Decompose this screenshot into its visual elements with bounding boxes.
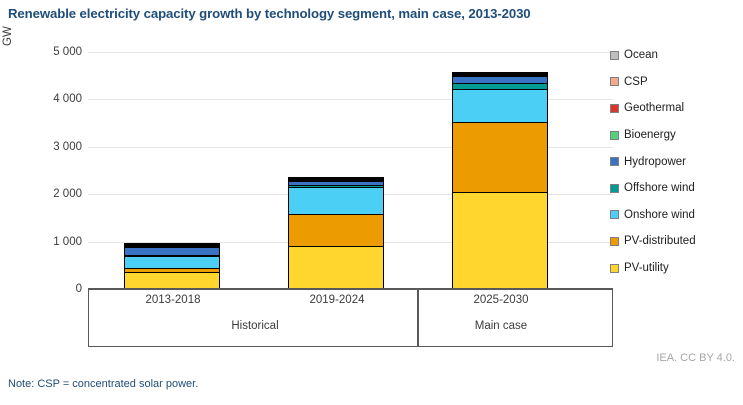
y-axis-tick-label: 0	[22, 283, 82, 295]
category-group-separator	[417, 290, 419, 347]
x-axis-period-label: 2019-2024	[277, 294, 397, 306]
legend-item-geothermal[interactable]: Geothermal	[610, 95, 740, 122]
legend-item-pv-distributed[interactable]: PV-distributed	[610, 228, 740, 255]
legend-label: Bioenergy	[624, 129, 676, 141]
x-axis-period-label: 2025-2030	[441, 294, 561, 306]
bar-segment-pv-utility[interactable]	[124, 272, 220, 289]
bar-2013-2018[interactable]	[124, 243, 220, 289]
y-axis-tick-label: 4 000	[22, 93, 82, 105]
bar-segment-pv-utility[interactable]	[452, 192, 548, 289]
legend-swatch-icon	[610, 104, 619, 113]
y-axis-tick-label: 1 000	[22, 236, 82, 248]
legend-item-ocean[interactable]: Ocean	[610, 42, 740, 69]
legend-label: Ocean	[624, 49, 658, 61]
x-axis-group-label: Main case	[441, 320, 561, 332]
x-axis-period-label: 2013-2018	[113, 294, 233, 306]
y-axis-tick-label: 3 000	[22, 141, 82, 153]
gridline	[88, 52, 613, 53]
chart-legend: OceanCSPGeothermalBioenergyHydropowerOff…	[610, 42, 740, 281]
category-axis: 2013-20182019-20242025-2030HistoricalMai…	[88, 290, 613, 347]
legend-label: Hydropower	[624, 156, 686, 168]
legend-label: Geothermal	[624, 102, 684, 114]
legend-swatch-icon	[610, 51, 619, 60]
legend-swatch-icon	[610, 77, 619, 86]
legend-item-offshore-wind[interactable]: Offshore wind	[610, 175, 740, 202]
legend-swatch-icon	[610, 237, 619, 246]
legend-swatch-icon	[610, 184, 619, 193]
bar-segment-pv-utility[interactable]	[288, 246, 384, 289]
legend-item-pv-utility[interactable]: PV-utility	[610, 255, 740, 282]
legend-label: PV-distributed	[624, 235, 696, 247]
legend-swatch-icon	[610, 210, 619, 219]
legend-label: CSP	[624, 76, 648, 88]
legend-item-onshore-wind[interactable]: Onshore wind	[610, 202, 740, 229]
legend-label: Offshore wind	[624, 182, 695, 194]
bar-2025-2030[interactable]	[452, 72, 548, 289]
legend-swatch-icon	[610, 131, 619, 140]
copyright-credit: IEA. CC BY 4.0.	[656, 352, 735, 364]
y-axis-ticks: 01 0002 0003 0004 0005 000	[12, 0, 82, 405]
bar-2019-2024[interactable]	[288, 177, 384, 289]
bar-segment-onshore-wind[interactable]	[288, 187, 384, 215]
legend-item-bioenergy[interactable]: Bioenergy	[610, 122, 740, 149]
bar-segment-onshore-wind[interactable]	[124, 256, 220, 269]
legend-item-hydropower[interactable]: Hydropower	[610, 148, 740, 175]
legend-label: PV-utility	[624, 262, 669, 274]
legend-swatch-icon	[610, 264, 619, 273]
bar-segment-onshore-wind[interactable]	[452, 89, 548, 124]
bar-segment-pv-distributed[interactable]	[452, 122, 548, 193]
legend-swatch-icon	[610, 157, 619, 166]
y-axis-tick-label: 2 000	[22, 188, 82, 200]
chart-note: Note: CSP = concentrated solar power.	[8, 378, 198, 390]
bar-segment-pv-distributed[interactable]	[288, 214, 384, 247]
chart-title: Renewable electricity capacity growth by…	[8, 6, 531, 21]
x-axis-group-label: Historical	[195, 320, 315, 332]
legend-item-csp[interactable]: CSP	[610, 69, 740, 96]
y-axis-tick-label: 5 000	[22, 46, 82, 58]
legend-label: Onshore wind	[624, 209, 695, 221]
plot-area	[88, 52, 613, 289]
